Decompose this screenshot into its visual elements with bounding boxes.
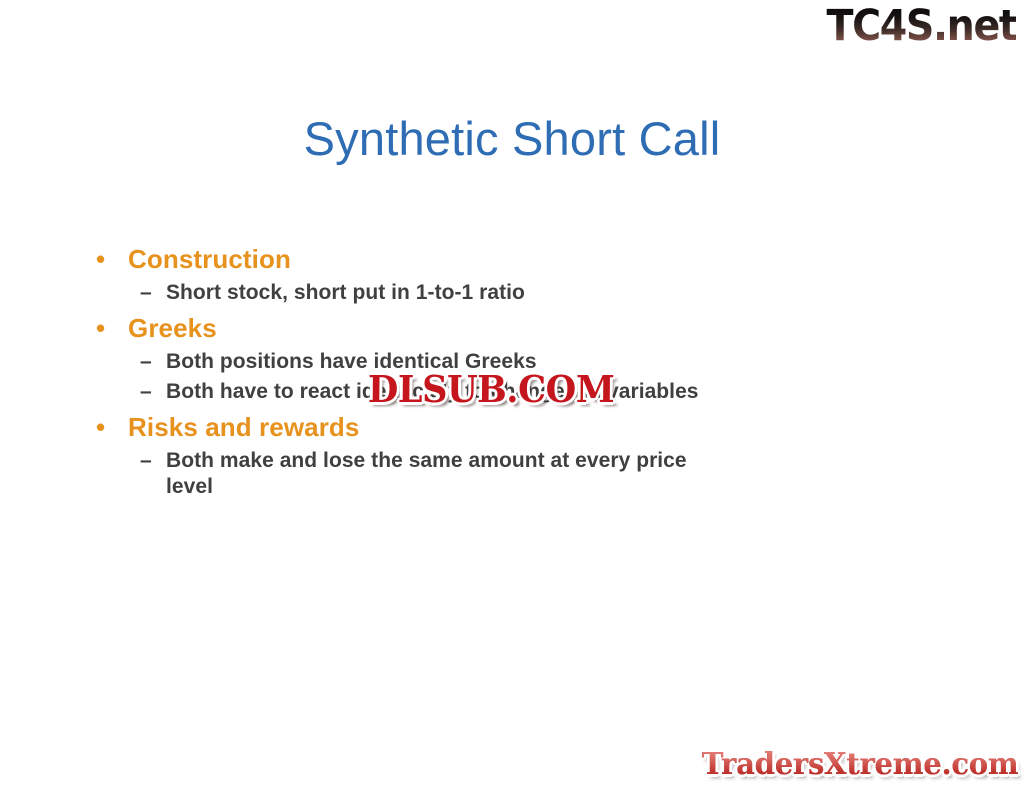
page-title: Synthetic Short Call (0, 110, 1024, 168)
bullet-level2-text: Both make and lose the same amount at ev… (166, 448, 732, 500)
brand-logo-tc4s: TC4S.net (826, 2, 1016, 50)
bullet-level1-greeks: • Greeks (92, 312, 732, 345)
bullet-level1-label: Risks and rewards (128, 412, 359, 442)
dlsub-watermark: DLSUB.COM (368, 369, 615, 409)
bullet-dash-icon: – (140, 448, 152, 474)
bullet-level2-item: – Both make and lose the same amount at … (92, 448, 732, 500)
bullet-dot-icon: • (96, 312, 105, 345)
bullet-level1-construction: • Construction (92, 243, 732, 276)
bullet-dot-icon: • (96, 243, 105, 276)
slide-canvas: TC4S.net Synthetic Short Call • Construc… (0, 0, 1024, 791)
footer-logo-tradersxtreme: TradersXtreme.com TradersXtreme.com (701, 747, 1018, 783)
bullet-level2-item: – Short stock, short put in 1-to-1 ratio (92, 280, 732, 306)
bullet-dash-icon: – (140, 379, 152, 405)
bullet-level1-risks-and-rewards: • Risks and rewards (92, 411, 732, 444)
footer-logo-text: TradersXtreme.com (701, 747, 1018, 782)
bullet-dash-icon: – (140, 280, 152, 306)
bullet-level1-label: Construction (128, 244, 291, 274)
bullet-dash-icon: – (140, 349, 152, 375)
bullet-level2-text: Short stock, short put in 1-to-1 ratio (166, 280, 732, 306)
bullet-dot-icon: • (96, 411, 105, 444)
bullet-level1-label: Greeks (128, 313, 217, 343)
